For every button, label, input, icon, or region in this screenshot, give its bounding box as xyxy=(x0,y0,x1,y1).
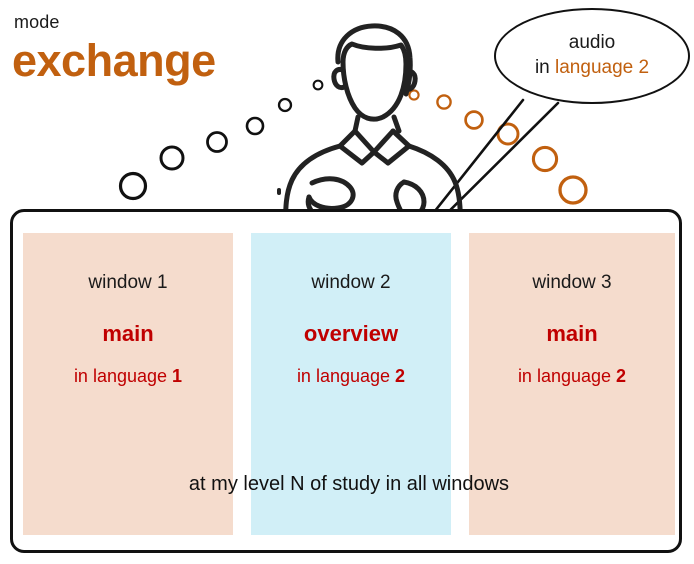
orange-circles-icon xyxy=(409,90,586,203)
window-1-language: in language 1 xyxy=(23,367,233,385)
window-2-language-number: 2 xyxy=(395,366,405,386)
window-3-language-prefix: in language xyxy=(518,366,611,386)
speech-bubble-line-2-highlight: language 2 xyxy=(555,57,649,78)
speech-bubble-text: audio in language 2 xyxy=(494,30,690,80)
speech-bubble-line-1: audio xyxy=(494,30,690,55)
window-1-title: window 1 xyxy=(23,273,233,292)
window-2-kind: overview xyxy=(251,323,451,345)
speech-bubble-line-2-prefix: in xyxy=(535,57,550,78)
windows-container: window 1 main in language 1 window 2 ove… xyxy=(10,209,682,553)
window-3-title: window 3 xyxy=(469,273,675,292)
window-1-language-prefix: in language xyxy=(74,366,167,386)
level-note: at my level N of study in all windows xyxy=(13,474,685,494)
black-circles-icon xyxy=(121,81,323,199)
speech-bubble: audio in language 2 xyxy=(494,8,690,104)
window-3-language: in language 2 xyxy=(469,367,675,385)
window-2-language: in language 2 xyxy=(251,367,451,385)
window-2-title: window 2 xyxy=(251,273,451,292)
window-3-language-number: 2 xyxy=(616,366,626,386)
person-crossed-arms-icon xyxy=(279,26,460,230)
window-3-kind: main xyxy=(469,323,675,345)
speech-bubble-line-2: in language 2 xyxy=(494,55,690,80)
mode-name-heading: exchange xyxy=(12,38,216,83)
window-1-language-number: 1 xyxy=(172,366,182,386)
mode-label: mode xyxy=(14,13,59,31)
window-2-language-prefix: in language xyxy=(297,366,390,386)
window-1-kind: main xyxy=(23,323,233,345)
